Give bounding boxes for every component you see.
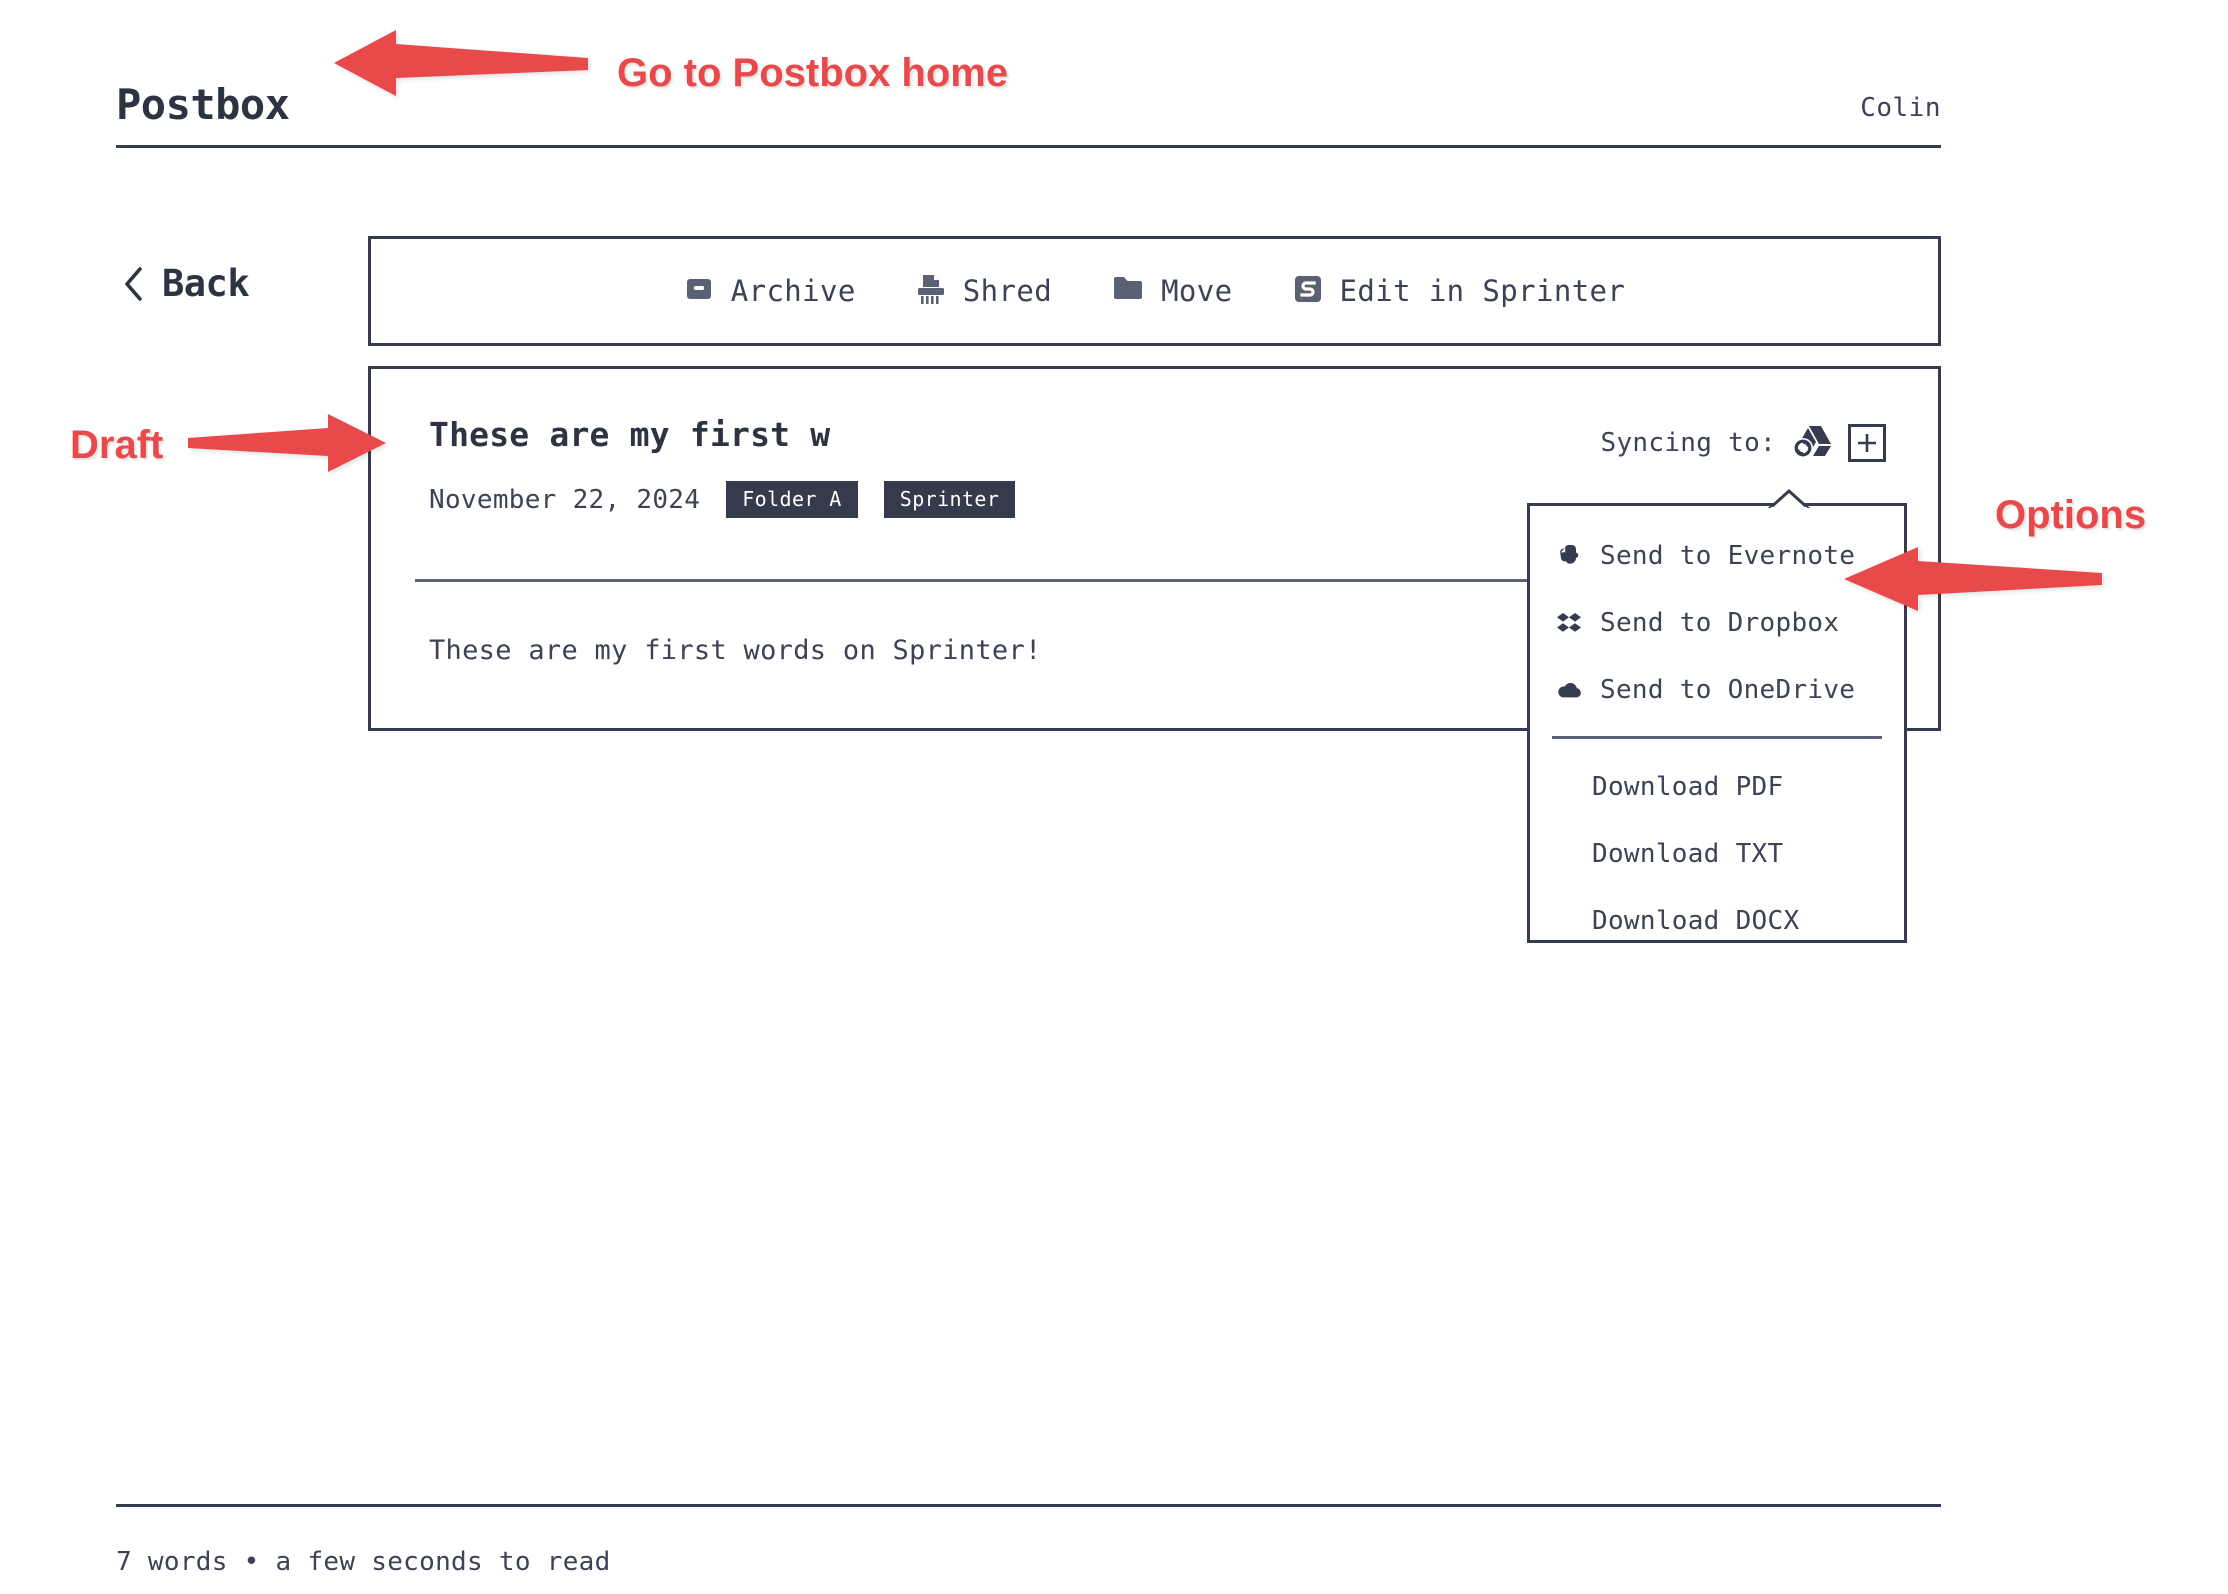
- draft-divider: [415, 579, 1575, 582]
- draft-title[interactable]: These are my first w: [429, 418, 830, 451]
- menu-item-label: Download DOCX: [1592, 908, 1799, 934]
- shred-label: Shred: [963, 277, 1052, 306]
- dropdown-caret-icon: [1767, 488, 1811, 508]
- move-action[interactable]: Move: [1112, 275, 1232, 307]
- shred-action[interactable]: Shred: [916, 273, 1052, 309]
- annotation-draft-label: Draft: [70, 425, 163, 465]
- annotation-arrow-draft: [188, 412, 388, 478]
- menu-item-label: Send to Evernote: [1600, 543, 1855, 569]
- back-label: Back: [162, 265, 249, 302]
- brand-wordmark[interactable]: Postbox: [116, 84, 290, 126]
- footer-region: 7 words • a few seconds to read: [116, 1504, 1941, 1507]
- annotation-arrow-home: [330, 28, 588, 102]
- draft-body-text[interactable]: These are my first words on Sprinter!: [429, 637, 1042, 664]
- menu-item-download-pdf[interactable]: Download PDF: [1530, 753, 1904, 820]
- dropdown-divider: [1552, 736, 1882, 739]
- evernote-icon: [1556, 543, 1582, 568]
- archive-action[interactable]: Archive: [684, 274, 856, 308]
- draft-tag-source[interactable]: Sprinter: [884, 481, 1016, 518]
- plus-icon: [1856, 432, 1878, 454]
- add-sync-target-button[interactable]: [1848, 424, 1886, 462]
- syncing-cluster: Syncing to:: [1601, 423, 1887, 463]
- annotation-arrow-options: [1840, 545, 2102, 617]
- account-name[interactable]: Colin: [1860, 95, 1941, 121]
- back-button[interactable]: Back: [122, 265, 249, 302]
- footer-stats: 7 words • a few seconds to read: [116, 1549, 611, 1575]
- menu-item-label: Download TXT: [1592, 841, 1783, 867]
- annotation-options-label: Options: [1995, 495, 2146, 535]
- edit-in-sprinter-action[interactable]: Edit in Sprinter: [1293, 274, 1626, 308]
- archive-icon: [684, 274, 714, 308]
- onedrive-cloud-icon: [1556, 680, 1582, 700]
- menu-item-send-onedrive[interactable]: Send to OneDrive: [1530, 656, 1904, 723]
- annotation-home-label: Go to Postbox home: [617, 53, 1008, 93]
- archive-label: Archive: [731, 277, 856, 306]
- draft-tag-folder[interactable]: Folder A: [726, 481, 858, 518]
- draft-meta-row: November 22, 2024 Folder A Sprinter: [429, 481, 1015, 518]
- menu-item-label: Send to Dropbox: [1600, 610, 1839, 636]
- dropbox-icon: [1556, 611, 1582, 635]
- menu-item-label: Send to OneDrive: [1600, 677, 1855, 703]
- action-toolbar: Archive Shred: [368, 236, 1941, 346]
- edit-in-sprinter-label: Edit in Sprinter: [1340, 277, 1626, 306]
- chevron-left-icon: [122, 266, 144, 302]
- folder-icon: [1112, 275, 1144, 307]
- draft-date: November 22, 2024: [429, 487, 700, 513]
- menu-item-label: Download PDF: [1592, 774, 1783, 800]
- menu-item-download-txt[interactable]: Download TXT: [1530, 820, 1904, 887]
- sprinter-logo-icon: [1293, 274, 1323, 308]
- syncing-label: Syncing to:: [1601, 430, 1777, 456]
- app-page: Postbox Colin Back Archive: [0, 0, 2228, 1594]
- menu-item-download-docx[interactable]: Download DOCX: [1530, 887, 1904, 954]
- shredder-icon: [916, 273, 946, 309]
- google-drive-sync-icon[interactable]: [1792, 423, 1832, 463]
- move-label: Move: [1161, 277, 1232, 306]
